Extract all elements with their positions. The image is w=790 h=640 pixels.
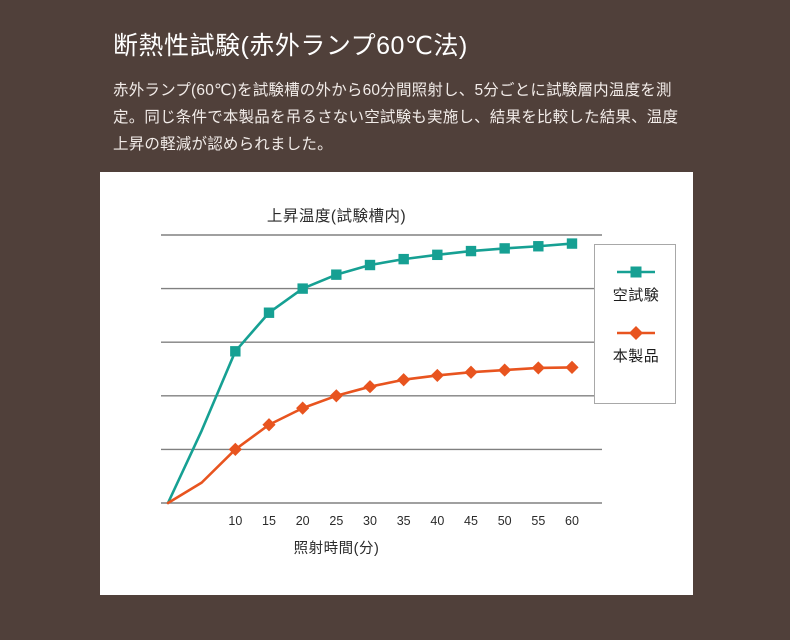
data-point-marker (464, 366, 477, 379)
x-tick-label: 60 (565, 514, 579, 528)
x-axis-tick-labels: 1015202530354045505560 (228, 514, 579, 528)
series-group (168, 238, 579, 503)
x-axis-title: 照射時間(分) (100, 537, 573, 558)
heading-block: 断熱性試験(赤外ランプ60℃法) 赤外ランプ(60℃)を試験槽の外から60分間照… (113, 30, 713, 158)
data-point-marker (363, 380, 376, 393)
x-tick-label: 30 (363, 514, 377, 528)
series-line-blank-test (168, 244, 572, 503)
data-point-marker (567, 238, 577, 248)
legend-entry-product: 本製品 (595, 324, 677, 366)
data-point-marker (431, 369, 444, 382)
page-description: 赤外ランプ(60℃)を試験槽の外から60分間照射し、5分ごとに試験層内温度を測定… (113, 77, 693, 158)
x-tick-label: 45 (464, 514, 478, 528)
data-point-marker (230, 346, 240, 356)
x-tick-label: 15 (262, 514, 276, 528)
data-point-marker (398, 254, 408, 264)
x-tick-label: 40 (430, 514, 444, 528)
data-point-marker (498, 363, 511, 376)
chart-card: 上昇温度(試験槽内) 1015202530354045505560 照射時間(分… (100, 172, 693, 595)
data-point-marker (565, 361, 578, 374)
data-point-marker (330, 389, 343, 402)
data-point-marker (365, 260, 375, 270)
square-marker-icon (595, 263, 677, 281)
data-point-marker (533, 241, 543, 251)
x-tick-label: 10 (228, 514, 242, 528)
data-point-marker (499, 243, 509, 253)
chart-legend: 空試験 本製品 (594, 244, 676, 404)
legend-label: 空試験 (595, 284, 677, 305)
legend-entry-blank-test: 空試験 (595, 263, 677, 305)
data-point-marker (432, 250, 442, 260)
data-point-marker (297, 283, 307, 293)
x-tick-label: 50 (498, 514, 512, 528)
data-point-marker (331, 269, 341, 279)
x-tick-label: 25 (329, 514, 343, 528)
x-tick-label: 55 (531, 514, 545, 528)
page-title: 断熱性試験(赤外ランプ60℃法) (113, 30, 713, 63)
data-point-marker (264, 308, 274, 318)
data-point-marker (296, 402, 309, 415)
diamond-marker-icon (595, 324, 677, 342)
legend-label: 本製品 (595, 345, 677, 366)
x-tick-label: 20 (296, 514, 310, 528)
data-point-marker (397, 373, 410, 386)
page-root: 断熱性試験(赤外ランプ60℃法) 赤外ランプ(60℃)を試験槽の外から60分間照… (0, 0, 790, 640)
x-tick-label: 35 (397, 514, 411, 528)
data-point-marker (466, 246, 476, 256)
data-point-marker (532, 361, 545, 374)
